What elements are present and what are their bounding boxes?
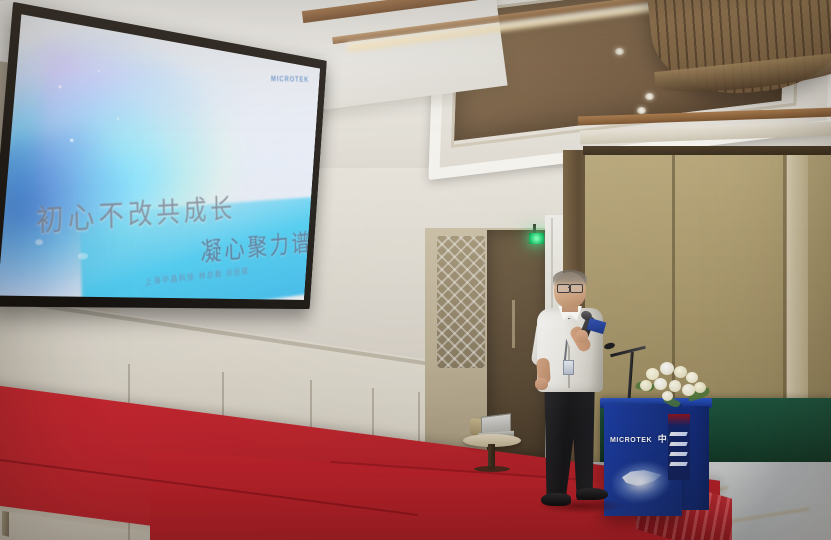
door-handle[interactable] — [512, 300, 515, 348]
lectern-brand-latin: MICROTEK — [610, 437, 652, 444]
flower-bloom — [640, 380, 652, 391]
speaker-hand-right — [576, 330, 588, 343]
lanyard-badge — [563, 360, 574, 375]
speaker-shoe-left — [541, 493, 571, 506]
side-table-base — [474, 466, 510, 472]
glasses-icon — [557, 284, 570, 293]
exit-sign-icon — [529, 233, 544, 244]
slide-sparkle — [117, 118, 119, 120]
coffer-downlight-icon — [615, 48, 624, 55]
conference-photo-scene: 初心不改共成长 凝心聚力谱新篇 上海中晶科技 林总裁 总经理 MICROTEK — [0, 0, 831, 540]
glasses-icon — [570, 284, 583, 293]
speaker-shoe-right — [576, 488, 608, 500]
banner-stripe — [669, 442, 688, 446]
banner-stripe — [669, 432, 688, 436]
flower-bloom — [694, 382, 706, 393]
flower-bloom — [669, 380, 681, 392]
slide-sparkle — [70, 139, 74, 142]
glasses-bridge-icon — [568, 287, 571, 288]
flower-bloom — [654, 378, 667, 390]
slide-sparkle — [98, 70, 100, 72]
banner-stripe — [669, 462, 688, 466]
coffer-downlight-icon — [645, 93, 654, 100]
slide-brand-logo: MICROTEK — [271, 74, 309, 83]
banner-stripe — [669, 452, 688, 456]
lattice-screen-panel — [437, 236, 485, 368]
white-rose-arrangement — [634, 360, 718, 408]
flower-bloom — [660, 362, 674, 375]
flower-bloom — [682, 384, 695, 396]
wood-wall-top-trim — [583, 146, 831, 155]
flower-bloom — [662, 391, 673, 401]
lectern-brand-logo: MICROTEK 中晶 — [610, 432, 677, 445]
speaker-hand-left — [535, 378, 548, 390]
lectern-vertical-banner — [668, 414, 690, 480]
coffer-downlight-icon — [637, 107, 646, 114]
flower-bloom — [686, 372, 698, 383]
